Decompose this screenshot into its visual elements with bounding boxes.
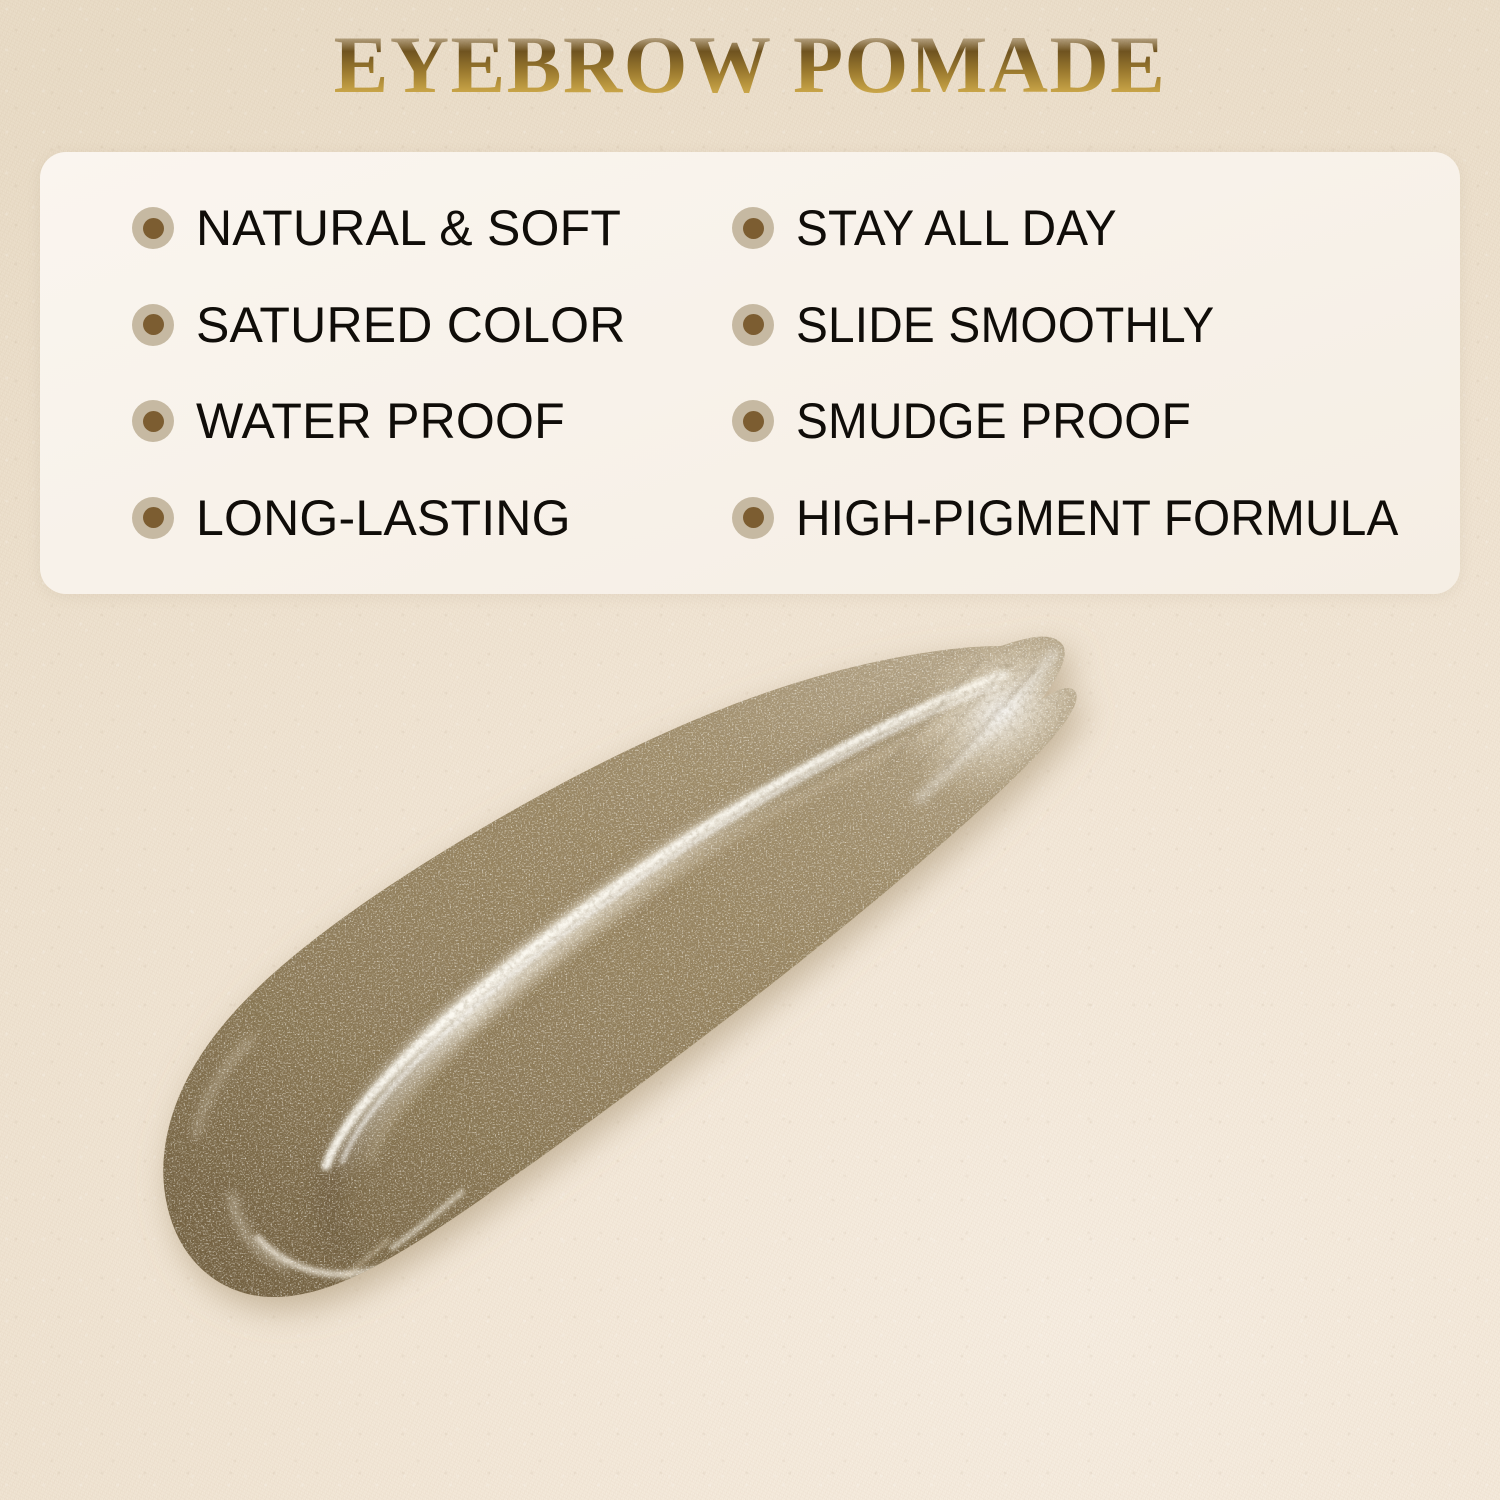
dot-bullet-icon xyxy=(732,304,774,346)
feature-item-satured-color: SATURED COLOR xyxy=(132,300,732,350)
dot-bullet-icon xyxy=(132,400,174,442)
dot-bullet-icon xyxy=(732,400,774,442)
feature-item-natural-and-soft: NATURAL & SOFT xyxy=(132,203,732,253)
dot-bullet-icon xyxy=(132,207,174,249)
pomade-swatch-area: Glossy shimmering taupe-brown eyebrow po… xyxy=(0,600,1500,1500)
feature-item-high-pigment-formula: HIGH-PIGMENT FORMULA xyxy=(732,493,1422,543)
dot-bullet-icon xyxy=(132,304,174,346)
page-title: EYEBROW POMADE xyxy=(0,22,1500,108)
feature-label: SATURED COLOR xyxy=(196,300,626,350)
dot-bullet-icon xyxy=(732,207,774,249)
feature-item-stay-all-day: STAY ALL DAY xyxy=(732,203,1422,253)
feature-list-card: NATURAL & SOFT STAY ALL DAY SATURED COLO… xyxy=(40,152,1460,594)
feature-item-water-proof: WATER PROOF xyxy=(132,396,732,446)
feature-label: NATURAL & SOFT xyxy=(196,203,621,253)
dot-bullet-icon xyxy=(132,497,174,539)
feature-item-slide-smoothly: SLIDE SMOOTHLY xyxy=(732,300,1422,350)
feature-label: HIGH-PIGMENT FORMULA xyxy=(796,493,1399,543)
feature-label: STAY ALL DAY xyxy=(796,203,1117,253)
feature-grid: NATURAL & SOFT STAY ALL DAY SATURED COLO… xyxy=(40,152,1460,594)
feature-label: SLIDE SMOOTHLY xyxy=(796,300,1214,350)
dot-bullet-icon xyxy=(732,497,774,539)
pomade-swatch xyxy=(0,600,1500,1500)
feature-label: SMUDGE PROOF xyxy=(796,396,1191,446)
feature-item-long-lasting: LONG-LASTING xyxy=(132,493,732,543)
feature-label: WATER PROOF xyxy=(196,396,565,446)
feature-item-smudge-proof: SMUDGE PROOF xyxy=(732,396,1422,446)
feature-label: LONG-LASTING xyxy=(196,493,571,543)
